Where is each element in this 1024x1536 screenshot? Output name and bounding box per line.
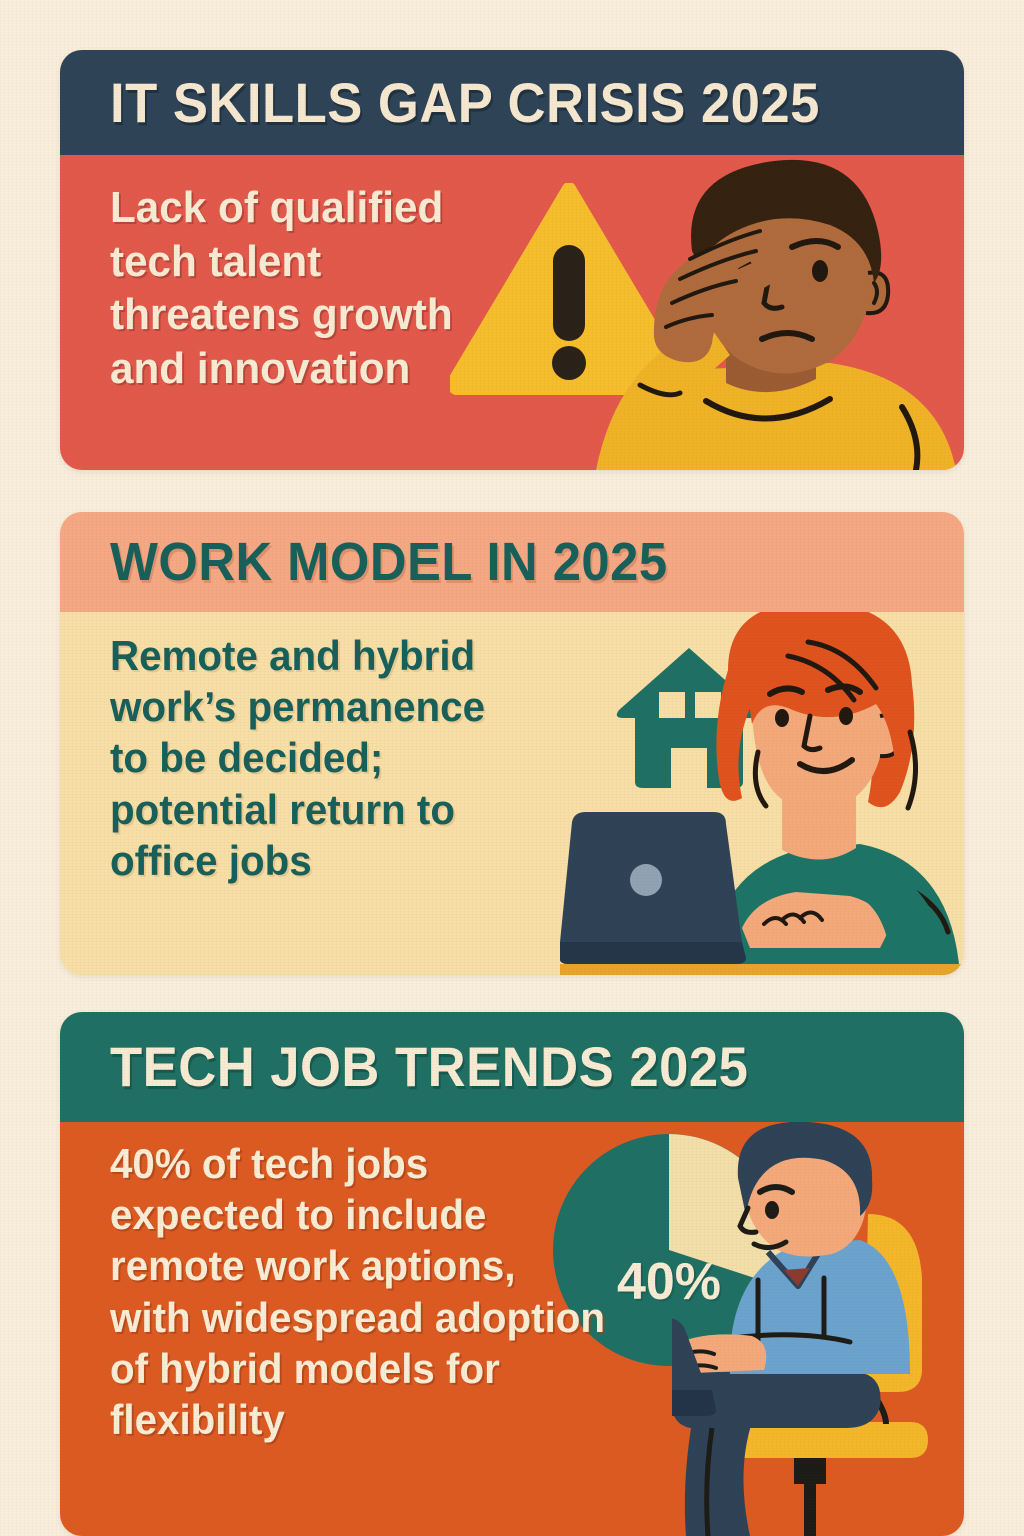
card3-title: TECH JOB TRENDS 2025 <box>110 1039 748 1095</box>
card3-body: 40% <box>60 1122 964 1536</box>
card2-header: WORK MODEL IN 2025 <box>60 512 964 612</box>
card2-body: Remote and hybrid work’s permanence to b… <box>60 612 964 975</box>
woman-at-laptop-illustration <box>560 612 964 975</box>
card-tech-job-trends: TECH JOB TRENDS 2025 40% <box>60 1012 964 1536</box>
card1-title: IT SKILLS GAP CRISIS 2025 <box>110 75 820 131</box>
card1-header: IT SKILLS GAP CRISIS 2025 <box>60 50 964 155</box>
worried-man-illustration <box>530 155 964 470</box>
card-it-skills-gap: IT SKILLS GAP CRISIS 2025 <box>60 50 964 470</box>
card2-title: WORK MODEL IN 2025 <box>110 535 668 589</box>
man-office-chair-illustration <box>672 1122 964 1536</box>
card-work-model: WORK MODEL IN 2025 <box>60 512 964 975</box>
card3-body-text: 40% of tech jobs expected to include rem… <box>110 1138 605 1445</box>
card3-header: TECH JOB TRENDS 2025 <box>60 1012 964 1122</box>
card1-body: Lack of qualified tech talent threatens … <box>60 155 964 470</box>
card1-body-text: Lack of qualified tech talent threatens … <box>110 181 453 396</box>
card2-body-text: Remote and hybrid work’s permanence to b… <box>110 630 485 886</box>
infographic-poster: IT SKILLS GAP CRISIS 2025 <box>0 0 1024 1536</box>
